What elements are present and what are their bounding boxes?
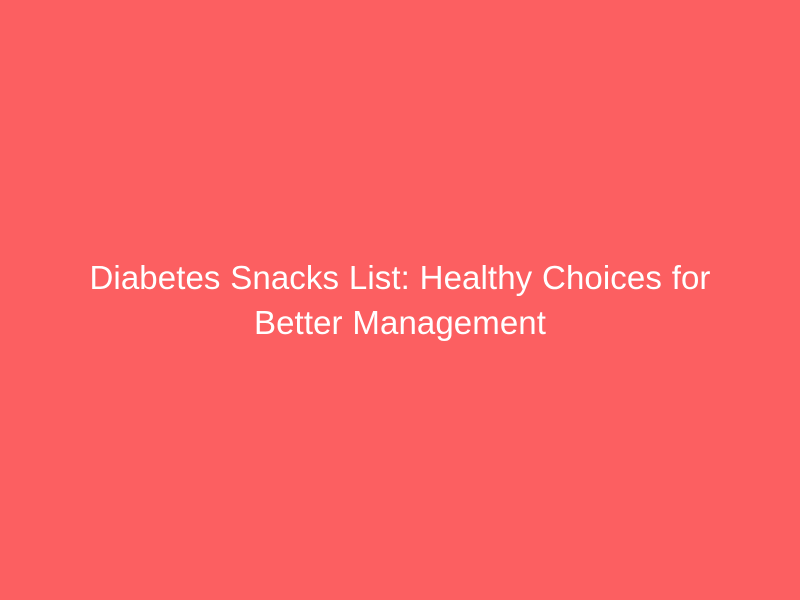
hero-banner: Diabetes Snacks List: Healthy Choices fo… — [0, 0, 800, 600]
page-title: Diabetes Snacks List: Healthy Choices fo… — [80, 255, 720, 345]
hero-content: Diabetes Snacks List: Healthy Choices fo… — [80, 255, 720, 345]
